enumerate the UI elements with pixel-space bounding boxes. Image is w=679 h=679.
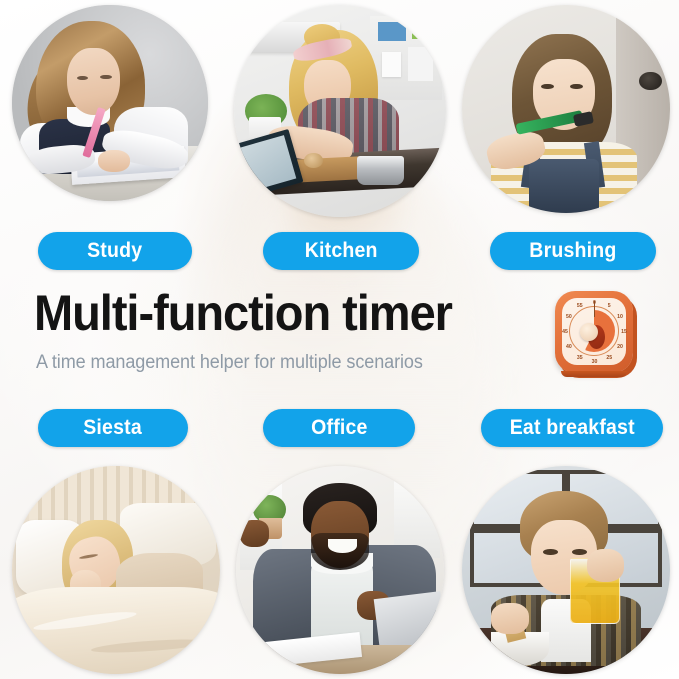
page-subtitle: A time management helper for multiple sc… bbox=[36, 352, 423, 374]
timer-dial-number-50: 50 bbox=[566, 314, 572, 320]
timer-dial-number-10: 10 bbox=[617, 314, 623, 320]
study-face bbox=[67, 48, 120, 115]
scene-photo-kitchen: Blonde woman with headband and plaid shi… bbox=[234, 5, 446, 217]
timer-center-knob bbox=[580, 323, 598, 341]
scene-photo-siesta: Blonde woman sleeping peacefully in a be… bbox=[12, 466, 220, 674]
scene-label-office[interactable]: Office bbox=[263, 409, 415, 447]
scene-label-siesta-text: Siesta bbox=[84, 416, 143, 440]
breakfast-hand-left bbox=[491, 603, 528, 634]
office-raised-fist bbox=[240, 520, 269, 547]
scene-label-brushing-text: Brushing bbox=[529, 239, 616, 263]
timer-dial-number-25: 25 bbox=[606, 355, 612, 361]
kitchen-note-white bbox=[382, 52, 401, 77]
timer-dial-number-35: 35 bbox=[577, 355, 583, 361]
scene-photo-brushing: Young girl in striped shirt and denim ov… bbox=[462, 5, 670, 213]
timer-dial-number-0: 0 bbox=[593, 300, 596, 306]
scene-label-eat-breakfast-text: Eat breakfast bbox=[509, 416, 634, 440]
timer-product-image: 0510152025303540455055 bbox=[551, 287, 639, 379]
scene-label-kitchen[interactable]: Kitchen bbox=[263, 232, 419, 270]
scene-photo-eat-breakfast: Boy drinking a glass of orange juice whi… bbox=[462, 466, 670, 674]
timer-dial-number-15: 15 bbox=[621, 329, 627, 335]
scene-label-study[interactable]: Study bbox=[38, 232, 192, 270]
kitchen-note-paper bbox=[408, 47, 433, 81]
product-infographic: Girl in white blouse and dark vest writi… bbox=[0, 0, 679, 679]
timer-base bbox=[561, 371, 627, 377]
scene-label-siesta[interactable]: Siesta bbox=[38, 409, 188, 447]
scene-label-eat-breakfast[interactable]: Eat breakfast bbox=[481, 409, 663, 447]
brushing-door-knob bbox=[639, 72, 662, 91]
scene-photo-study: Girl in white blouse and dark vest writi… bbox=[12, 5, 208, 201]
timer-dial-number-55: 55 bbox=[577, 303, 583, 309]
study-hand bbox=[98, 150, 129, 172]
breakfast-hand-right bbox=[587, 549, 624, 582]
kitchen-saucepan bbox=[357, 156, 404, 186]
scene-photo-office: Smiling businessman in a grey suit celeb… bbox=[236, 466, 444, 674]
kitchen-note-green bbox=[412, 22, 435, 39]
timer-dial-number-40: 40 bbox=[566, 344, 572, 350]
kitchen-note-blue bbox=[378, 22, 406, 41]
scene-label-brushing[interactable]: Brushing bbox=[490, 232, 656, 270]
siesta-duvet bbox=[12, 587, 220, 674]
timer-dial-number-45: 45 bbox=[562, 329, 568, 335]
timer-dial-number-5: 5 bbox=[608, 303, 611, 309]
timer-dial-number-30: 30 bbox=[592, 359, 598, 365]
page-title: Multi-function timer bbox=[34, 288, 452, 338]
scene-label-kitchen-text: Kitchen bbox=[305, 239, 378, 263]
brushing-overalls bbox=[529, 159, 600, 213]
scene-label-office-text: Office bbox=[311, 416, 367, 440]
scene-label-study-text: Study bbox=[87, 239, 142, 263]
timer-dial-number-20: 20 bbox=[617, 344, 623, 350]
